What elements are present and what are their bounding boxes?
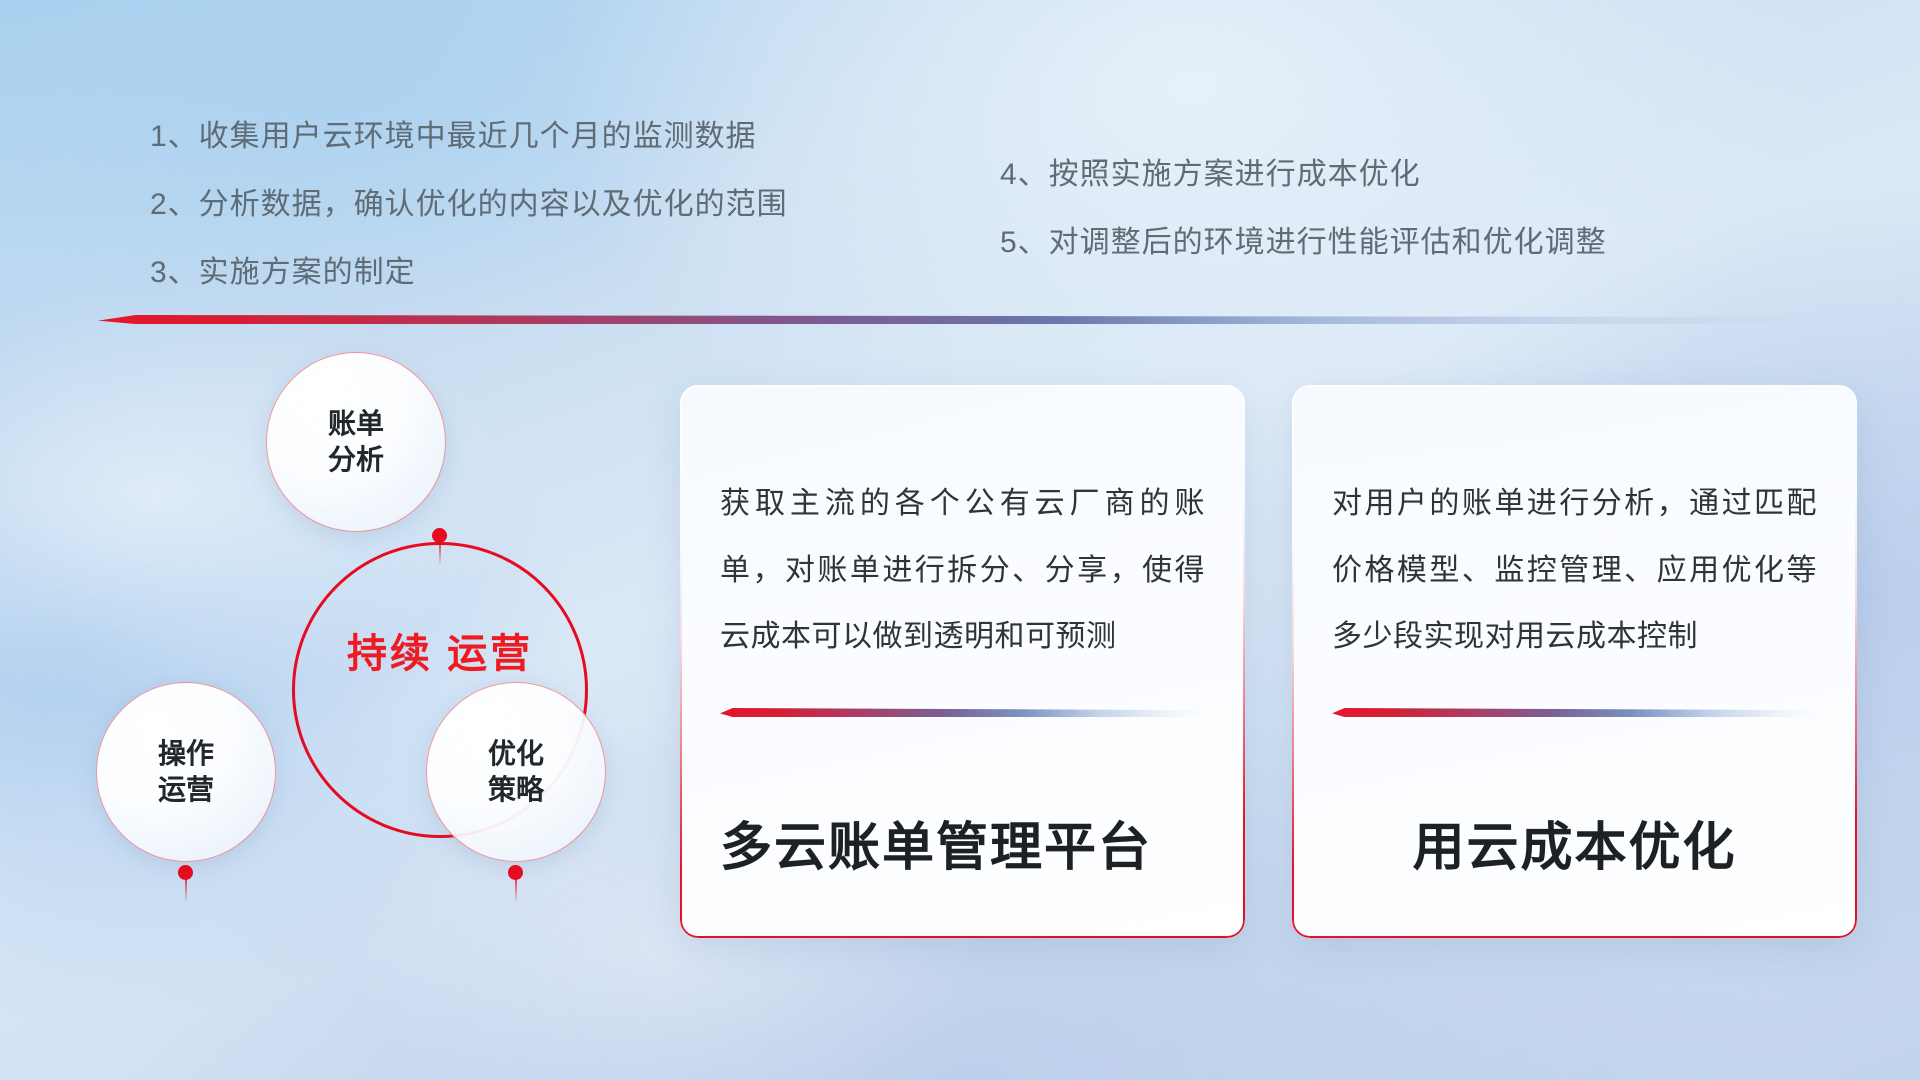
- card-1-accent-rule: [720, 708, 1205, 717]
- card-1-description: 获取主流的各个公有云厂商的账单，对账单进行拆分、分享，使得云成本可以做到透明和可…: [720, 471, 1205, 671]
- node-right-line-1: 优化: [488, 736, 544, 772]
- node-top-line-1: 账单: [328, 406, 384, 442]
- node-left-line-1: 操作: [158, 736, 214, 772]
- node-stem-right-icon: [515, 877, 517, 903]
- steps-right-column: 4、按照实施方案进行成本优化 5、对调整后的环境进行性能评估和优化调整: [1000, 160, 1607, 296]
- feature-card-cloud-cost-optimization[interactable]: 对用户的账单进行分析，通过匹配价格模型、监控管理、应用优化等多少段实现对用云成本…: [1292, 385, 1857, 938]
- slide-stage: 1、收集用户云环境中最近几个月的监测数据 2、分析数据，确认优化的内容以及优化的…: [0, 0, 1920, 1080]
- diagram-node-bill-analysis[interactable]: 账单 分析: [266, 352, 446, 532]
- step-item-1: 1、收集用户云环境中最近几个月的监测数据: [150, 122, 788, 152]
- center-label-line-2: 运营: [447, 632, 533, 676]
- diagram-node-operations[interactable]: 操作 运营: [96, 682, 276, 862]
- node-dot-top-icon: [432, 528, 447, 543]
- card-2-title: 用云成本优化: [1332, 805, 1817, 938]
- card-1-inner: 获取主流的各个公有云厂商的账单，对账单进行拆分、分享，使得云成本可以做到透明和可…: [680, 385, 1245, 938]
- diagram-center-label: 持续 运营: [292, 630, 588, 679]
- card-1-title: 多云账单管理平台: [720, 805, 1205, 938]
- step-item-3: 3、实施方案的制定: [150, 258, 788, 288]
- feature-card-multicloud-billing[interactable]: 获取主流的各个公有云厂商的账单，对账单进行拆分、分享，使得云成本可以做到透明和可…: [680, 385, 1245, 938]
- center-label-line-1: 持续: [347, 632, 433, 676]
- step-item-5: 5、对调整后的环境进行性能评估和优化调整: [1000, 228, 1607, 258]
- node-top-line-2: 分析: [328, 442, 384, 478]
- node-dot-left-icon: [178, 865, 193, 880]
- card-2-inner: 对用户的账单进行分析，通过匹配价格模型、监控管理、应用优化等多少段实现对用云成本…: [1292, 385, 1857, 938]
- section-divider-line: [98, 315, 1804, 324]
- continuous-operation-diagram: 持续 运营 账单 分析 操作 运营 优化 策略: [96, 352, 656, 952]
- step-item-2: 2、分析数据，确认优化的内容以及优化的范围: [150, 190, 788, 220]
- node-left-line-2: 运营: [158, 772, 214, 808]
- node-dot-right-icon: [508, 865, 523, 880]
- card-2-accent-rule: [1332, 708, 1817, 717]
- step-item-4: 4、按照实施方案进行成本优化: [1000, 160, 1607, 190]
- card-2-description: 对用户的账单进行分析，通过匹配价格模型、监控管理、应用优化等多少段实现对用云成本…: [1332, 471, 1817, 671]
- node-right-line-2: 策略: [488, 772, 544, 808]
- node-stem-left-icon: [185, 877, 187, 903]
- steps-left-column: 1、收集用户云环境中最近几个月的监测数据 2、分析数据，确认优化的内容以及优化的…: [150, 122, 788, 326]
- diagram-node-optimization-strategy[interactable]: 优化 策略: [426, 682, 606, 862]
- node-stem-top-icon: [439, 540, 441, 566]
